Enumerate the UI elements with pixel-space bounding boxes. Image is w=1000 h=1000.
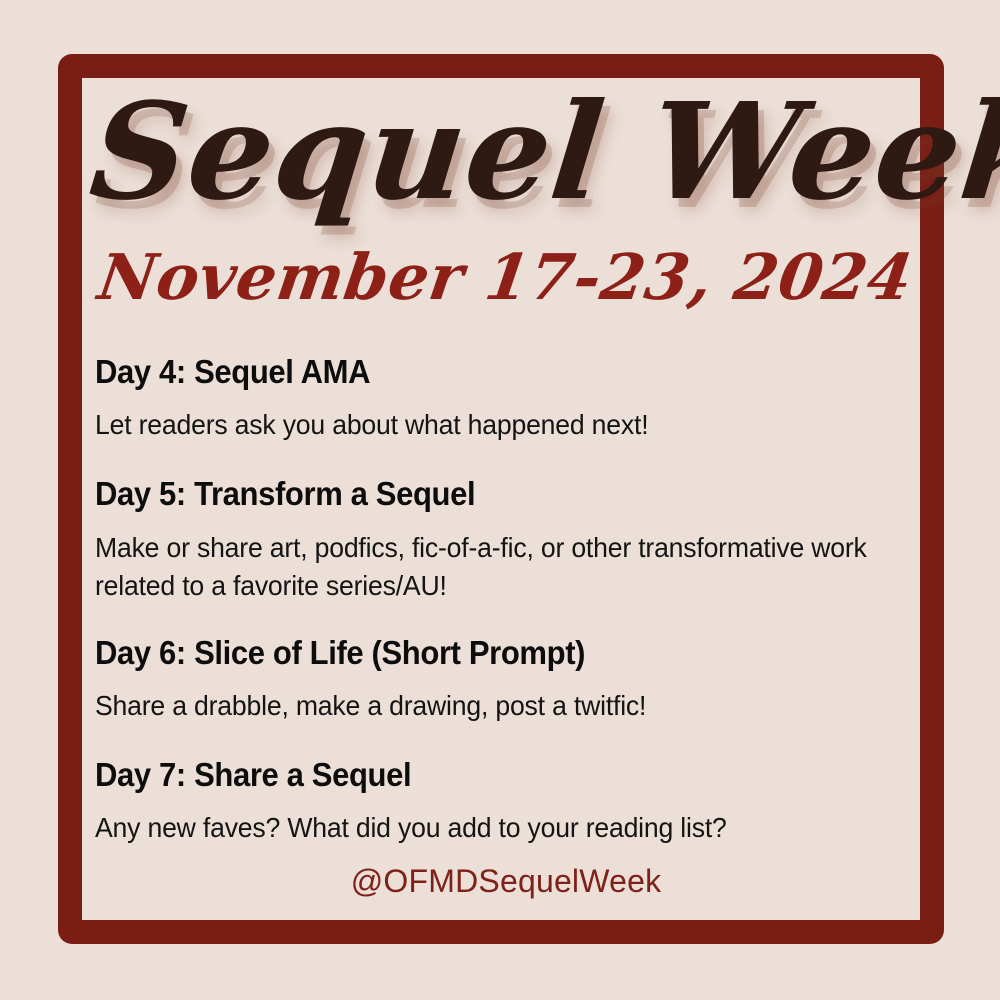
social-handle: @OFMDSequelWeek: [95, 863, 917, 900]
day-7-description: Any new faves? What did you add to your …: [95, 809, 876, 847]
day-4-description: Let readers ask you about what happened …: [95, 406, 876, 444]
list-item: Day 7: Share a Sequel Any new faves? Wha…: [95, 755, 917, 847]
day-6-description: Share a drabble, make a drawing, post a …: [95, 687, 876, 725]
header-block: Sequel Week November 17-23, 2024: [82, 78, 920, 348]
list-item: Day 5: Transform a Sequel Make or share …: [95, 474, 917, 604]
list-item: Day 4: Sequel AMA Let readers ask you ab…: [95, 352, 917, 444]
list-item: Day 6: Slice of Life (Short Prompt) Shar…: [95, 633, 917, 725]
event-date-subtitle: November 17-23, 2024: [78, 246, 925, 309]
day-4-heading: Day 4: Sequel AMA: [95, 352, 868, 392]
day-6-heading: Day 6: Slice of Life (Short Prompt): [95, 633, 868, 673]
day-5-heading: Day 5: Transform a Sequel: [95, 474, 868, 514]
schedule-list: Day 4: Sequel AMA Let readers ask you ab…: [95, 352, 917, 900]
page-title: Sequel Week: [85, 86, 919, 219]
day-5-description: Make or share art, podfics, fic-of-a-fic…: [95, 529, 876, 605]
day-7-heading: Day 7: Share a Sequel: [95, 755, 868, 795]
poster-content: Sequel Week November 17-23, 2024 Day 4: …: [82, 78, 920, 920]
sequel-week-poster: Sequel Week November 17-23, 2024 Day 4: …: [0, 0, 1000, 1000]
